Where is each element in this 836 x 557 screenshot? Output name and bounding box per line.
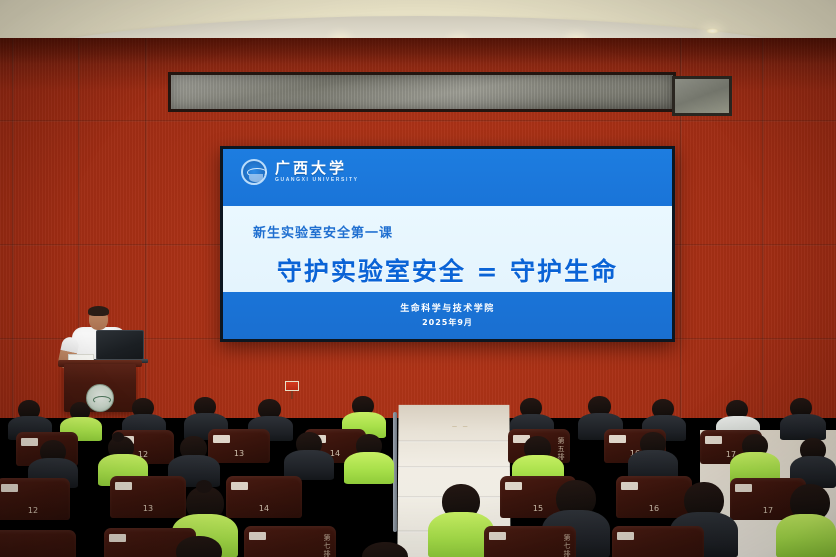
seat-number: 12: [28, 506, 38, 515]
seat-number: 17: [763, 506, 773, 515]
audience-seating: 11 12 13 14 15 第五排 16 17: [0, 396, 836, 557]
auditorium-seat[interactable]: 15 第七排: [484, 526, 576, 557]
slide-date: 2025年9月: [223, 317, 672, 328]
speaker-hair: [88, 306, 109, 316]
auditorium-seat[interactable]: 16: [612, 526, 704, 557]
side-wall-panel: [672, 76, 732, 116]
audience-hair-bun: [112, 432, 124, 442]
seat-tag: [115, 482, 132, 490]
seat-row-label: 第七排: [562, 534, 572, 557]
upper-wall-banner-panel: [168, 72, 676, 112]
seat-tag: [617, 532, 634, 540]
wall-panel-seam: [762, 38, 764, 418]
seat-tag: [21, 438, 38, 446]
seat-tag: [1, 484, 18, 492]
audience-shirt: [780, 414, 826, 440]
university-seal-icon: [241, 159, 267, 185]
seat-tag: [609, 435, 626, 443]
wall-panel-seam: [12, 38, 14, 418]
projection-screen: 广西大学 GUANGXI UNIVERSITY 新生实验室安全第一课 守护实验室…: [220, 146, 675, 342]
university-logo: 广西大学 GUANGXI UNIVERSITY: [241, 159, 359, 185]
slide-organization: 生命科学与技术学院: [223, 301, 672, 314]
seat-number: 13: [234, 449, 244, 458]
slide-header-band: 广西大学 GUANGXI UNIVERSITY: [223, 149, 672, 206]
audience-hair-bun: [196, 480, 212, 493]
seat-row-label: 第五排: [556, 437, 566, 461]
slide-body: 新生实验室安全第一课 守护实验室安全 = 守护生命: [223, 206, 672, 292]
logo-name-cn: 广西大学: [275, 161, 359, 176]
auditorium-seat[interactable]: 13: [110, 476, 186, 518]
seat-tag: [505, 482, 522, 490]
exit-sign-icon: [285, 381, 299, 391]
ceiling-downlight: [706, 28, 719, 34]
seat-tag: [109, 534, 126, 542]
banner-sheen: [171, 75, 673, 109]
seat-number: 13: [143, 504, 153, 513]
seat-number: 14: [259, 504, 269, 513]
lecture-hall-photo: 广西大学 GUANGXI UNIVERSITY 新生实验室安全第一课 守护实验室…: [0, 0, 836, 557]
auditorium-seat[interactable]: 14: [226, 476, 302, 518]
seat-tag: [213, 435, 230, 443]
audience-shirt: [776, 514, 836, 557]
seat-tag: [249, 532, 266, 540]
auditorium-seat[interactable]: 13: [0, 530, 76, 557]
seat-tag: [231, 482, 248, 490]
slide-title: 守护实验室安全 = 守护生命: [223, 252, 672, 288]
presentation-slide: 广西大学 GUANGXI UNIVERSITY 新生实验室安全第一课 守护实验室…: [223, 149, 672, 339]
audience-head: [362, 542, 408, 557]
laptop-icon: [96, 330, 144, 360]
seat-number: 16: [649, 504, 659, 513]
slide-footer-band: 生命科学与技术学院 2025年9月: [223, 292, 672, 339]
logo-name-en: GUANGXI UNIVERSITY: [275, 178, 359, 183]
slide-subtitle: 新生实验室安全第一课: [253, 222, 393, 241]
seat-tag: [735, 484, 752, 492]
seat-tag: [621, 482, 638, 490]
seat-row-label: 第七排: [322, 534, 332, 557]
audience-shirt: [344, 452, 394, 484]
logo-text-block: 广西大学 GUANGXI UNIVERSITY: [275, 161, 359, 183]
auditorium-seat[interactable]: 12: [0, 478, 70, 520]
wall-panel-seam: [0, 120, 836, 122]
auditorium-seat[interactable]: 16: [616, 476, 692, 518]
seat-number: 15: [533, 504, 543, 513]
seat-tag: [489, 532, 506, 540]
auditorium-seat[interactable]: 13: [208, 429, 270, 463]
wall-top-shadow: [0, 38, 836, 64]
auditorium-seat[interactable]: 第七排: [244, 526, 336, 557]
seat-tag: [705, 436, 722, 444]
